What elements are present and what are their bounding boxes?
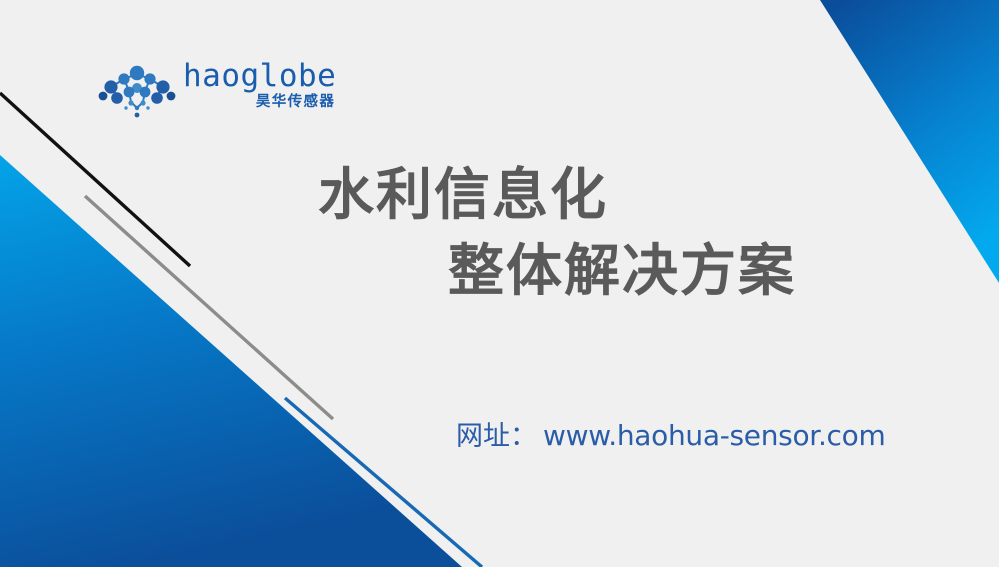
title-line-2: 整体解决方案 (0, 234, 999, 310)
logo-text-block: haoglobe 昊华传感器 (183, 57, 336, 111)
website-url[interactable]: www.haohua-sensor.com (543, 417, 885, 455)
network-dots-icon (98, 61, 176, 119)
website-label: 网址： (456, 418, 537, 456)
website-line: 网址： www.haohua-sensor.com (456, 417, 885, 456)
company-logo: haoglobe 昊华传感器 (98, 57, 336, 119)
title-line-1: 水利信息化 (0, 158, 999, 234)
page-title: 水利信息化 整体解决方案 (0, 158, 999, 310)
title-slide: haoglobe 昊华传感器 水利信息化 整体解决方案 网址： www.haoh… (0, 0, 999, 567)
logo-wordmark: haoglobe (183, 60, 336, 92)
logo-chinese-name: 昊华传感器 (256, 94, 336, 111)
